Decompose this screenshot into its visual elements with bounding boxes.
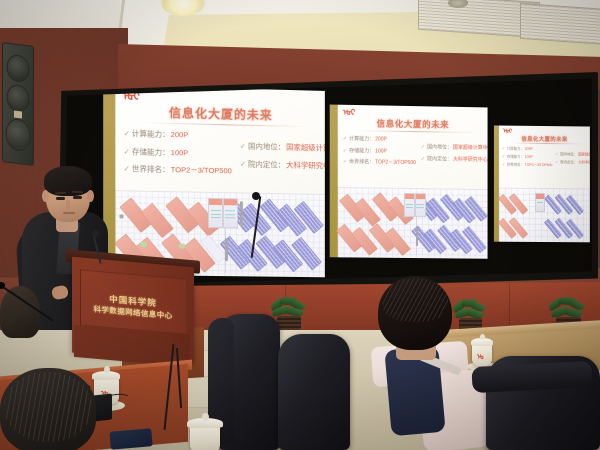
bullet-item: ✓ 世界排名： TOP2－3/TOP500 (343, 158, 416, 166)
cup-knob (202, 413, 209, 421)
floorplan-legend (223, 198, 238, 228)
speaker-cone-icon (6, 117, 31, 152)
check-icon: ✓ (343, 159, 347, 165)
check-icon: ✓ (240, 142, 246, 151)
slide-title: 信息化大厦的未来 (338, 117, 488, 132)
bullet-label: 世界排名： (507, 162, 524, 167)
bullet-label: 世界排名： (132, 163, 170, 175)
bullet-value: 100P (375, 148, 387, 154)
bullet-item: ✓ 存储能力： 100P (343, 146, 416, 154)
slide-content-2: ᡈᢗ 信息化大厦的未来 ✓ 计算能力： 200P ✓ 存储能力： 100P (338, 105, 488, 259)
check-icon: ✓ (123, 164, 129, 173)
check-icon: ✓ (555, 152, 558, 156)
bullet-item: ✓ 国内地位： 国家超级计算中心 (421, 143, 488, 151)
check-icon: ✓ (555, 160, 558, 164)
slide-panel-2[interactable]: ᡈᢗ 信息化大厦的未来 ✓ 计算能力： 200P ✓ 存储能力： 100P (330, 105, 488, 259)
check-icon: ✓ (502, 163, 505, 167)
bullet-label: 存储能力： (132, 146, 170, 158)
presenter-eye (73, 196, 82, 199)
bullet-label: 院内定位： (560, 159, 577, 164)
bullet-item: ✓ 世界排名： TOP2－3/TOP500 (502, 162, 552, 167)
check-icon: ✓ (421, 156, 425, 162)
bullet-label: 国内地位： (248, 141, 285, 153)
microphone-icon (92, 230, 99, 237)
wall-speaker (2, 42, 34, 166)
audience-hair (382, 278, 448, 322)
datacenter-floorplan (499, 188, 590, 243)
slide-content-1: ᡈᢗ 信息化大厦的未来 ✓ 计算能力： 200P ✓ 存储能力： 100P (115, 85, 324, 277)
presenter-hair (44, 166, 92, 196)
datacenter-floorplan (338, 187, 488, 259)
bullet-column-right: ✓ 国内地位： 国家超级计算中心 ✓ 院内定位： 大科学研究中心 (552, 146, 590, 170)
bullet-item: ✓ 国内地位： 国家超级计算中心 (555, 151, 590, 156)
bullet-value: 大科学研究中心 (453, 155, 488, 163)
presenter-mouth (63, 212, 75, 214)
conference-hall-photo: ᡈᢗ 信息化大厦的未来 ✓ 计算能力： 200P ✓ 存储能力： 100P (0, 0, 600, 450)
cup-knob (480, 334, 485, 340)
bullet-label: 计算能力： (507, 146, 524, 151)
check-icon: ✓ (343, 147, 347, 153)
presenter-nose (66, 200, 70, 209)
foreground-hair (4, 372, 92, 442)
presenter-ear (42, 190, 49, 202)
podium-front-panel: 中国科学院 科学数据网络信息中心 (80, 269, 186, 334)
bullet-label: 国内地位： (427, 143, 452, 150)
floorplan-legend (404, 193, 415, 217)
check-icon: ✓ (421, 144, 425, 150)
bullet-label: 计算能力： (132, 128, 170, 140)
bullet-column-right: ✓ 国内地位： 国家超级计算中心 ✓ 院内定位： 大科学研究中心 (232, 130, 325, 185)
bullet-value: 国家超级计算中心 (453, 144, 488, 152)
bullet-column-left: ✓ 计算能力： 200P ✓ 存储能力： 100P ✓ 世界排名： TO (499, 146, 552, 171)
cup-knob (104, 366, 110, 373)
slide-bullet-columns: ✓ 计算能力： 200P ✓ 存储能力： 100P ✓ 世界排名： TO (499, 146, 590, 171)
bullet-item: ✓ 院内定位： 大科学研究中心 (240, 158, 325, 171)
floorplan-legend (535, 193, 544, 212)
slide-panel-3[interactable]: ᡈᢗ 信息化大厦的未来 ✓ 计算能力： 200P ✓ 存储能力： 100P (494, 125, 590, 242)
chair[interactable] (278, 334, 350, 450)
chair[interactable] (486, 356, 600, 450)
check-icon: ✓ (343, 136, 347, 142)
display-wall-screen[interactable]: ᡈᢗ 信息化大厦的未来 ✓ 计算能力： 200P ✓ 存储能力： 100P (64, 78, 592, 286)
check-icon: ✓ (240, 159, 246, 168)
bullet-label: 存储能力： (507, 154, 524, 159)
presenter-eye (56, 197, 65, 200)
bullet-label: 院内定位： (248, 158, 285, 170)
slide-content-3: ᡈᢗ 信息化大厦的未来 ✓ 计算能力： 200P ✓ 存储能力： 100P (499, 126, 590, 243)
bullet-value: 200P (171, 130, 189, 139)
bullet-value: TOP2－3/TOP500 (171, 164, 232, 176)
hvac-grille-icon (520, 3, 600, 45)
bullet-label: 世界排名： (349, 158, 374, 165)
speaker-cone-icon (7, 54, 30, 84)
bullet-column-left: ✓ 计算能力： 200P ✓ 存储能力： 100P ✓ 世界排名： TO (338, 135, 416, 171)
bullet-label: 国内地位： (560, 151, 577, 156)
bullet-value: 大科学研究中心 (578, 159, 590, 164)
floorplan-legend (208, 198, 223, 228)
bullet-value: 100P (171, 148, 189, 157)
slide-panel-1[interactable]: ᡈᢗ 信息化大厦的未来 ✓ 计算能力： 200P ✓ 存储能力： 100P (103, 85, 325, 277)
bullet-item: ✓ 院内定位： 大科学研究中心 (421, 155, 488, 163)
slide-bullet-columns: ✓ 计算能力： 200P ✓ 存储能力： 100P ✓ 世界排名： TO (338, 135, 488, 172)
bullet-item: ✓ 存储能力： 100P (123, 145, 231, 158)
bullet-value: 大科学研究中心 (286, 159, 325, 171)
check-icon: ✓ (123, 129, 129, 138)
speaker-cone-icon (7, 84, 30, 114)
bullet-value: 国家超级计算中心 (286, 142, 325, 154)
bullet-item: ✓ 院内定位： 大科学研究中心 (555, 159, 590, 164)
bullet-item: ✓ 计算能力： 200P (123, 128, 231, 142)
bullet-label: 存储能力： (349, 147, 374, 154)
floorplan-legend (414, 193, 425, 217)
bullet-value: 100P (525, 155, 533, 159)
bullet-item: ✓ 国内地位： 国家超级计算中心 (240, 141, 325, 154)
check-icon: ✓ (502, 147, 505, 151)
check-icon: ✓ (123, 146, 129, 155)
smartphone[interactable] (109, 428, 152, 450)
bullet-column-right: ✓ 国内地位： 国家超级计算中心 ✓ 院内定位： 大科学研究中心 (416, 136, 488, 172)
title-divider (512, 143, 583, 145)
bullet-item: ✓ 世界排名： TOP2－3/TOP500 (123, 163, 231, 176)
bullet-value: TOP2－3/TOP500 (375, 158, 416, 166)
bullet-label: 计算能力： (349, 135, 374, 142)
bullet-value: 200P (375, 136, 387, 142)
microphone-icon (252, 192, 260, 200)
bullet-column-left: ✓ 计算能力： 200P ✓ 存储能力： 100P ✓ 世界排名： TO (115, 128, 231, 183)
bullet-item: ✓ 存储能力： 100P (502, 154, 552, 159)
bullet-value: TOP2－3/TOP500 (525, 162, 553, 167)
speaker-badge (14, 111, 22, 119)
slide-title: 信息化大厦的未来 (115, 102, 324, 124)
presenter-ear (87, 190, 94, 202)
check-icon: ✓ (502, 155, 505, 159)
cup-logo-icon: ᡈ (477, 350, 483, 362)
slide-bullet-columns: ✓ 计算能力： 200P ✓ 存储能力： 100P ✓ 世界排名： TO (115, 128, 324, 185)
bullet-item: ✓ 计算能力： 200P (502, 146, 552, 152)
cnic-logo-icon: ᡈᢗ (343, 109, 356, 117)
bullet-label: 院内定位： (427, 155, 452, 162)
foreground-head (0, 286, 40, 338)
bullet-value: 200P (525, 147, 533, 151)
slide-side-border (330, 105, 338, 258)
bullet-value: 国家超级计算中心 (578, 151, 590, 156)
bullet-item: ✓ 计算能力： 200P (343, 135, 416, 143)
chair-armrest (471, 361, 592, 393)
